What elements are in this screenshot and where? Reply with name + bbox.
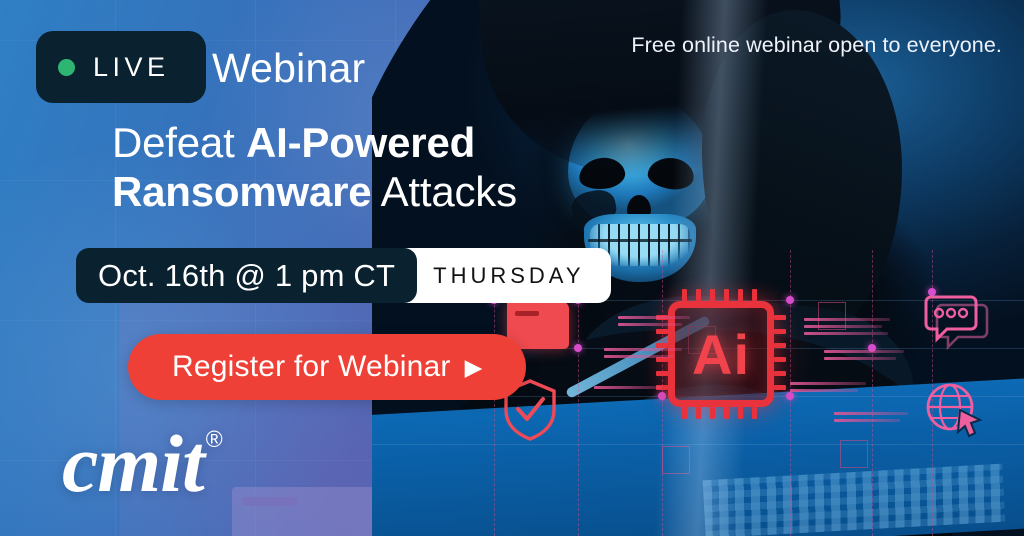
live-label: LIVE (93, 52, 170, 83)
live-dot-icon (58, 59, 75, 76)
cmit-wordmark: cmit (62, 418, 204, 509)
skull-teeth-line (588, 239, 692, 242)
webinar-word: Webinar (212, 45, 365, 92)
register-button[interactable]: Register for Webinar ▶ (128, 334, 526, 400)
date-pill: Oct. 16th @ 1 pm CT (76, 248, 417, 303)
register-button-label: Register for Webinar (172, 350, 451, 384)
live-badge: LIVE (36, 31, 206, 103)
date-bar: Oct. 16th @ 1 pm CT THURSDAY (76, 248, 611, 303)
headline-line2-suffix: Attacks (371, 168, 516, 215)
headline-line2-bold: Ransomware (112, 168, 371, 215)
webinar-promo-banner: Ai (0, 0, 1024, 536)
cmit-logo: cmit® (62, 423, 220, 505)
headline-line1-bold: AI-Powered (246, 119, 475, 166)
day-pill: THURSDAY (393, 248, 610, 303)
headline: Defeat AI-Powered Ransomware Attacks (112, 118, 672, 216)
headline-line1-prefix: Defeat (112, 119, 246, 166)
tagline: Free online webinar open to everyone. (631, 33, 1002, 58)
registered-mark: ® (206, 426, 222, 452)
play-arrow-icon: ▶ (465, 356, 483, 379)
